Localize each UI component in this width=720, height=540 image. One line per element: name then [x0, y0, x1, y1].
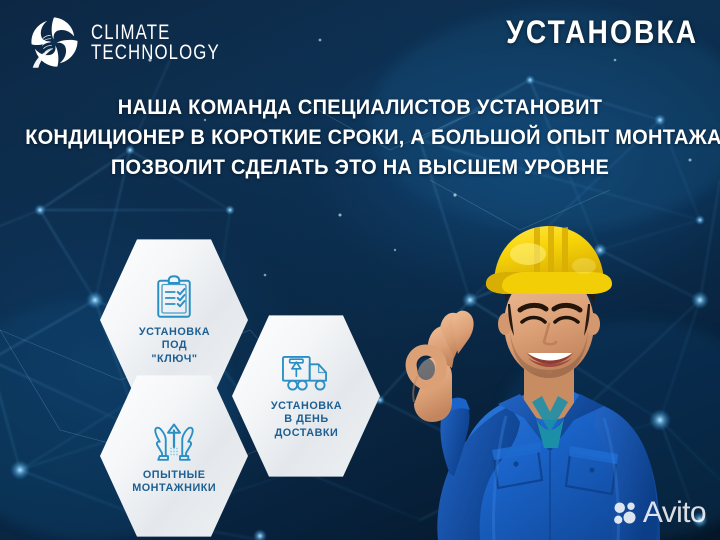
feature-label: УСТАНОВКА В ДЕНЬ ДОСТАВКИ [270, 400, 341, 441]
feature-label: ОПЫТНЫЕ МОНТАЖНИКИ [132, 469, 216, 496]
headline-line-2: КОНДИЦИОНЕР В КОРОТКИЕ СРОКИ, А БОЛЬШОЙ … [25, 122, 695, 152]
feature-label-line1: УСТАНОВКА [270, 400, 341, 414]
brand-name-line2: TECHNOLOGY [91, 43, 220, 63]
delivery-truck-icon [280, 352, 332, 396]
fan-spiral-icon [26, 14, 82, 70]
feature-label-line1: УСТАНОВКА [138, 326, 209, 340]
clipboard-checklist-icon [150, 274, 198, 322]
brand-name-line1: CLIMATE [91, 23, 220, 43]
brand-logo[interactable]: CLIMATE TECHNOLOGY [26, 14, 252, 70]
promo-banner: CLIMATE TECHNOLOGY УСТАНОВКА НАША КОМАНД… [0, 0, 720, 540]
feature-label-line2: МОНТАЖНИКИ [132, 482, 216, 496]
headline-line-3: ПОЗВОЛИТ СДЕЛАТЬ ЭТО НА ВЫСШЕМ УРОВНЕ [25, 152, 695, 182]
feature-label-line2: ПОД [138, 339, 209, 353]
feature-label: УСТАНОВКА ПОД "КЛЮЧ" [138, 326, 209, 367]
brand-name: CLIMATE TECHNOLOGY [91, 21, 252, 64]
page-title: УСТАНОВКА [506, 14, 698, 51]
avito-watermark: Avito [613, 498, 706, 528]
worker-photo [398, 206, 720, 540]
avito-dots-icon [613, 501, 637, 525]
avito-wordmark: Avito [643, 498, 706, 528]
feature-label-line3: "КЛЮЧ" [138, 353, 209, 367]
feature-label-line2: В ДЕНЬ [270, 413, 341, 427]
headline-line-1: НАША КОМАНДА СПЕЦИАЛИСТОВ УСТАНОВИТ [25, 92, 695, 122]
hands-arrow-icon [150, 417, 198, 465]
feature-label-line3: ДОСТАВКИ [270, 427, 341, 441]
feature-label-line1: ОПЫТНЫЕ [132, 469, 216, 483]
headline-block: НАША КОМАНДА СПЕЦИАЛИСТОВ УСТАНОВИТ КОНД… [0, 92, 720, 182]
